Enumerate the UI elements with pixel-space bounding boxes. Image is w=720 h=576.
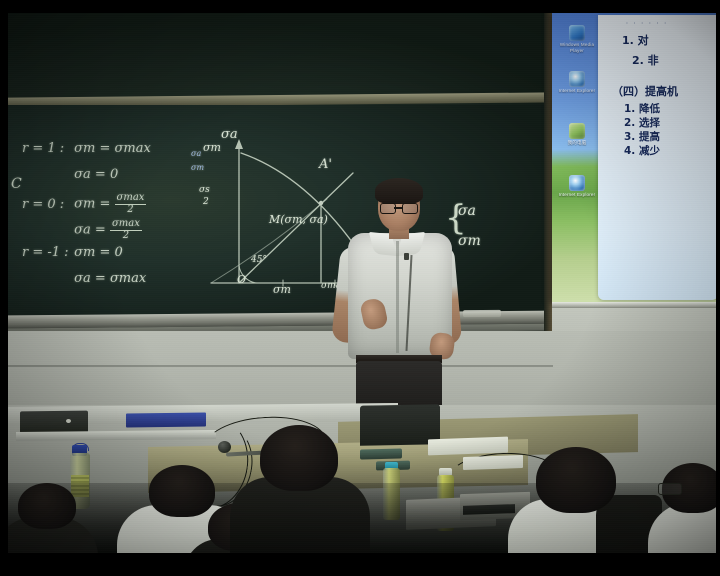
desktop-icon-internet-explorer[interactable]: Internet Explorer [556, 71, 598, 94]
wall-seam-line [8, 365, 553, 367]
letterbox-bar-left [0, 0, 8, 576]
slide-list-item: 3. 提高 [624, 131, 716, 145]
media-player-icon [569, 25, 585, 41]
slide-item: 1. 对 [622, 35, 716, 47]
chalk-rhs: 0 [115, 245, 123, 260]
chalk-lhs: σa [74, 223, 91, 238]
chalk-rhs: σmax [115, 141, 151, 156]
chalk-equation-row: r = 0 : σm = σmax 2 [22, 193, 202, 219]
chalk-equation-row: σa = 0 [22, 167, 202, 193]
glasses-icon [658, 483, 682, 495]
diagram-left-ratio-num: σa [191, 149, 201, 158]
diagram-point-label: M(σm, σa) [269, 213, 328, 226]
internet-explorer-icon [569, 71, 585, 87]
diagram-left-frac-den: 2 [203, 197, 209, 207]
lapel-microphone-icon [404, 253, 409, 260]
chalk-equals: = [95, 223, 110, 238]
diagram-point-m [319, 201, 323, 205]
equipment-box[interactable] [20, 411, 88, 434]
chalk-lhs: σa [74, 271, 91, 286]
chalk-equals: = [99, 245, 114, 260]
folder-icon [569, 123, 585, 139]
student-front-center [230, 425, 370, 553]
chalk-equation-row: r = -1 : σm = 0 [22, 245, 202, 271]
presentation-slide[interactable]: · · · · · · 1. 对 2. 非 （四）提高机 1. 降低 2. 选择… [598, 15, 716, 300]
video-frame: C r = 1 : σm = σmax σa = 0 r = 0 : σm [0, 0, 720, 576]
chalk-equation-group: r = 1 : σm = σmax σa = 0 r = 0 : σm = [22, 141, 202, 297]
slide-heading: （四）提高机 [612, 83, 716, 99]
slide-content: · · · · · · 1. 对 2. 非 （四）提高机 1. 降低 2. 选择… [598, 15, 716, 300]
student-far-right [654, 463, 716, 553]
chalk-fraction-numerator: σmax [115, 193, 147, 205]
chalk-fraction-numerator: σmax [110, 219, 142, 231]
diagram-y-axis-label: σa [221, 127, 238, 142]
desktop-icon-my-computer[interactable]: 我的电脑 [556, 123, 598, 146]
blackboard: C r = 1 : σm = σmax σa = 0 r = 0 : σm [8, 13, 553, 316]
slide-list-item: 4. 减少 [624, 145, 716, 159]
diagram-x-tick-label-1: σm [273, 283, 291, 296]
chalk-lhs: σm [74, 141, 95, 156]
glasses-bridge [394, 207, 402, 209]
diagram-left-ratio-den: σm [191, 163, 204, 172]
lecturer-shirt-placket [396, 241, 399, 353]
student-head [260, 425, 338, 491]
chalk-equals: = [99, 197, 114, 212]
lecturer-hair [375, 178, 423, 204]
chalk-lhs: σa [74, 167, 91, 182]
notebook[interactable] [428, 437, 508, 456]
desktop-icon-media-player[interactable]: Windows Media Player [556, 25, 598, 53]
diagram-left-frac-num: σs [199, 185, 210, 195]
chalk-fraction: σmax 2 [115, 193, 147, 215]
diagram-origin-label: O [237, 273, 246, 286]
slide-list-item: 1. 降低 [624, 103, 716, 117]
student-front-right [508, 447, 658, 553]
internet-explorer-icon [569, 175, 585, 191]
desktop-icon-label: Windows Media Player [560, 42, 594, 53]
student-head [536, 447, 616, 513]
slide-faint-header: · · · · · · [626, 21, 716, 27]
chalk-fraction-denominator: 2 [115, 205, 147, 216]
diagram-curve-label: A' [319, 157, 332, 172]
chalk-equals: = [95, 271, 110, 286]
slide-item: 2. 非 [632, 55, 716, 67]
projection-screen: Windows Media Player Internet Explorer 我… [552, 13, 716, 303]
chalk-equation-row: σa = σmax 2 [22, 219, 202, 245]
chalk-fraction-denominator: 2 [110, 231, 142, 242]
diagram-x-axis-label: σm [203, 141, 221, 154]
equipment-indicator-light [66, 419, 71, 423]
chalk-lhs: σm [74, 197, 95, 212]
chalk-condition: r = 1 : [22, 141, 70, 156]
letterbox-bar-right [716, 0, 720, 576]
chalk-fraction: σmax 2 [110, 219, 142, 241]
chalk-rhs: σmax [110, 271, 146, 286]
letterbox-bar-bottom [0, 553, 720, 576]
chalk-condition: r = 0 : [22, 197, 70, 212]
desktop-icon-label: 我的电脑 [568, 140, 587, 145]
chalk-lhs: σm [74, 245, 95, 260]
diagram-secondary-curve [211, 199, 327, 283]
student-head [18, 483, 76, 529]
chalk-rhs: 0 [110, 167, 118, 182]
chalk-equation-row: r = 1 : σm = σmax [22, 141, 202, 167]
slide-list: 1. 降低 2. 选择 3. 提高 4. 减少 [624, 103, 716, 158]
chalk-equation-row: σa = σmax [22, 271, 202, 297]
chalk-side-mark: C [11, 176, 22, 192]
diagram-angle-label: 45° [251, 255, 267, 265]
slide-list-item: 2. 选择 [624, 117, 716, 131]
letterbox-bar-top [0, 0, 720, 13]
student-far-left [8, 483, 98, 553]
video-content-area: C r = 1 : σm = σmax σa = 0 r = 0 : σm [8, 13, 716, 553]
chalk-equals: = [95, 167, 110, 182]
desktop-icon-label: Internet Explorer [559, 192, 596, 197]
chalk-condition: r = -1 : [22, 245, 70, 260]
glasses-icon [402, 203, 418, 214]
chalk-equals: = [99, 141, 114, 156]
desktop-icon-internet-explorer-2[interactable]: Internet Explorer [556, 175, 598, 198]
desktop-icon-label: Internet Explorer [559, 88, 596, 93]
board-eraser[interactable] [463, 310, 501, 317]
